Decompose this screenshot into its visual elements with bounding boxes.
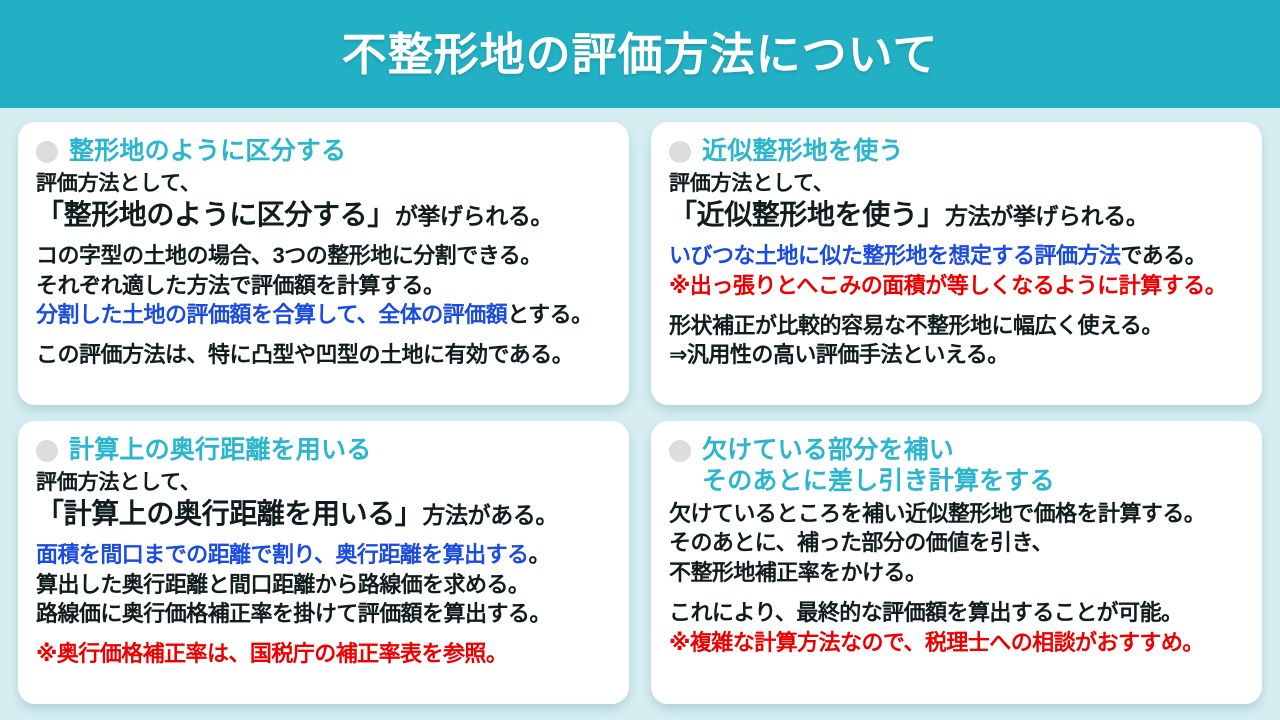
card-title: 欠けている部分を補い そのあとに差し引き計算をする — [702, 435, 1055, 496]
card-header: 欠けている部分を補い そのあとに差し引き計算をする — [669, 435, 1244, 496]
card-lead-small: 評価方法として、 — [36, 170, 611, 197]
text-run: この評価方法は、特に凸型や凹型の土地に有効である。 — [36, 342, 573, 367]
card-body: 面積を間口までの距離で割り、奥行距離を算出する。算出した奥行距離と間口距離から路… — [36, 540, 611, 669]
card-lead-main: 「計算上の奥行距離を用いる」方法がある。 — [36, 496, 611, 531]
body-line: この評価方法は、特に凸型や凹型の土地に有効である。 — [36, 340, 611, 369]
card-lead-main: 「整形地のように区分する」が挙げられる。 — [36, 197, 611, 232]
page-title: 不整形地の評価方法について — [342, 32, 939, 77]
body-line: 欠けているところを補い近似整形地で価格を計算する。 — [669, 499, 1244, 528]
body-line: 分割した土地の評価額を合算して、全体の評価額とする。 — [36, 300, 611, 329]
body-line: 路線価に奥行価格補正率を掛けて評価額を算出する。 — [36, 599, 611, 628]
text-run: 欠けているところを補い近似整形地で価格を計算する。 — [669, 501, 1205, 526]
card-okuyuki-kyori: 計算上の奥行距離を用いる 評価方法として、 「計算上の奥行距離を用いる」方法があ… — [18, 421, 629, 704]
text-run: 。 — [528, 542, 549, 567]
card-seikeichi-kubun: 整形地のように区分する 評価方法として、 「整形地のように区分する」が挙げられる… — [18, 122, 629, 405]
card-header: 近似整形地を使う — [669, 136, 1244, 167]
text-run: それぞれ適した方法で評価額を計算する。 — [36, 273, 445, 298]
text-run: ※複雑な計算方法なので、税理士への相談がおすすめ。 — [669, 630, 1204, 655]
body-line: 算出した奥行距離と間口距離から路線価を求める。 — [36, 570, 611, 599]
filled-circle-icon — [36, 440, 58, 462]
page-header: 不整形地の評価方法について — [0, 0, 1280, 108]
card-title: 整形地のように区分する — [69, 136, 346, 167]
body-paragraph: 欠けているところを補い近似整形地で価格を計算する。そのあとに、補った部分の価値を… — [669, 499, 1244, 587]
text-run: ⇒汎用性の高い評価手法といえる。 — [669, 342, 1009, 367]
body-line: ※出っ張りとへこみの面積が等しくなるように計算する。 — [669, 271, 1244, 300]
text-run: コの字型の土地の場合、3つの整形地に分割できる。 — [36, 243, 542, 268]
card-lead-small: 評価方法として、 — [669, 170, 1244, 197]
text-run: ※出っ張りとへこみの面積が等しくなるように計算する。 — [669, 273, 1226, 298]
text-run: とする。 — [507, 302, 592, 327]
body-line: 面積を間口までの距離で割り、奥行距離を算出する。 — [36, 540, 611, 569]
body-paragraph: 面積を間口までの距離で割り、奥行距離を算出する。算出した奥行距離と間口距離から路… — [36, 540, 611, 628]
filled-circle-icon — [669, 440, 691, 462]
card-lead-tail: 方法が挙げられる。 — [945, 203, 1148, 229]
card-lead-quote: 「近似整形地を使う」 — [669, 199, 945, 230]
card-lead-tail: 方法がある。 — [422, 502, 558, 528]
text-run: ※奥行価格補正率は、国税庁の補正率表を参照。 — [36, 641, 507, 666]
body-paragraph: ※奥行価格補正率は、国税庁の補正率表を参照。 — [36, 639, 611, 668]
filled-circle-icon — [669, 141, 691, 163]
body-paragraph: これにより、最終的な評価額を算出することが可能。※複雑な計算方法なので、税理士へ… — [669, 598, 1244, 657]
card-lead-quote: 「計算上の奥行距離を用いる」 — [36, 498, 422, 529]
card-title: 近似整形地を使う — [702, 136, 904, 167]
text-run: である。 — [1121, 243, 1207, 268]
filled-circle-icon — [36, 141, 58, 163]
body-paragraph: コの字型の土地の場合、3つの整形地に分割できる。それぞれ適した方法で評価額を計算… — [36, 241, 611, 329]
card-lead-quote: 「整形地のように区分する」 — [36, 199, 395, 230]
card-header: 計算上の奥行距離を用いる — [36, 435, 611, 466]
card-body: 欠けているところを補い近似整形地で価格を計算する。そのあとに、補った部分の価値を… — [669, 499, 1244, 657]
body-paragraph: この評価方法は、特に凸型や凹型の土地に有効である。 — [36, 340, 611, 369]
text-run: 路線価に奥行価格補正率を掛けて評価額を算出する。 — [36, 601, 551, 626]
text-run: これにより、最終的な評価額を算出することが可能。 — [669, 600, 1182, 625]
body-line: そのあとに、補った部分の価値を引き、 — [669, 528, 1244, 557]
card-grid: 整形地のように区分する 評価方法として、 「整形地のように区分する」が挙げられる… — [0, 108, 1280, 720]
card-lead-small: 評価方法として、 — [36, 469, 611, 496]
body-line: コの字型の土地の場合、3つの整形地に分割できる。 — [36, 241, 611, 270]
body-line: ※複雑な計算方法なので、税理士への相談がおすすめ。 — [669, 628, 1244, 657]
body-line: それぞれ適した方法で評価額を計算する。 — [36, 271, 611, 300]
card-header: 整形地のように区分する — [36, 136, 611, 167]
card-lead-tail: が挙げられる。 — [395, 203, 553, 229]
text-run: 面積を間口までの距離で割り、奥行距離を算出する — [36, 542, 528, 567]
card-lead-main: 「近似整形地を使う」方法が挙げられる。 — [669, 197, 1244, 232]
body-line: ⇒汎用性の高い評価手法といえる。 — [669, 340, 1244, 369]
body-line: いびつな土地に似た整形地を想定する評価方法である。 — [669, 241, 1244, 270]
body-line: これにより、最終的な評価額を算出することが可能。 — [669, 598, 1244, 627]
text-run: 算出した奥行距離と間口距離から路線価を求める。 — [36, 572, 529, 597]
body-paragraph: いびつな土地に似た整形地を想定する評価方法である。※出っ張りとへこみの面積が等し… — [669, 241, 1244, 300]
text-run: いびつな土地に似た整形地を想定する評価方法 — [669, 243, 1121, 268]
body-paragraph: 形状補正が比較的容易な不整形地に幅広く使える。⇒汎用性の高い評価手法といえる。 — [669, 311, 1244, 370]
card-kinji-seikeichi: 近似整形地を使う 評価方法として、 「近似整形地を使う」方法が挙げられる。 いび… — [651, 122, 1262, 405]
body-line: 形状補正が比較的容易な不整形地に幅広く使える。 — [669, 311, 1244, 340]
text-run: 分割した土地の評価額を合算して、全体の評価額 — [36, 302, 507, 327]
text-run: 不整形地補正率をかける。 — [669, 560, 926, 585]
card-body: コの字型の土地の場合、3つの整形地に分割できる。それぞれ適した方法で評価額を計算… — [36, 241, 611, 370]
text-run: そのあとに、補った部分の価値を引き、 — [669, 530, 1053, 555]
card-body: いびつな土地に似た整形地を想定する評価方法である。※出っ張りとへこみの面積が等し… — [669, 241, 1244, 370]
text-run: 形状補正が比較的容易な不整形地に幅広く使える。 — [669, 313, 1163, 338]
card-title: 計算上の奥行距離を用いる — [69, 435, 371, 466]
body-line: ※奥行価格補正率は、国税庁の補正率表を参照。 — [36, 639, 611, 668]
body-line: 不整形地補正率をかける。 — [669, 558, 1244, 587]
card-kaketeiru-bubun: 欠けている部分を補い そのあとに差し引き計算をする 欠けているところを補い近似整… — [651, 421, 1262, 704]
